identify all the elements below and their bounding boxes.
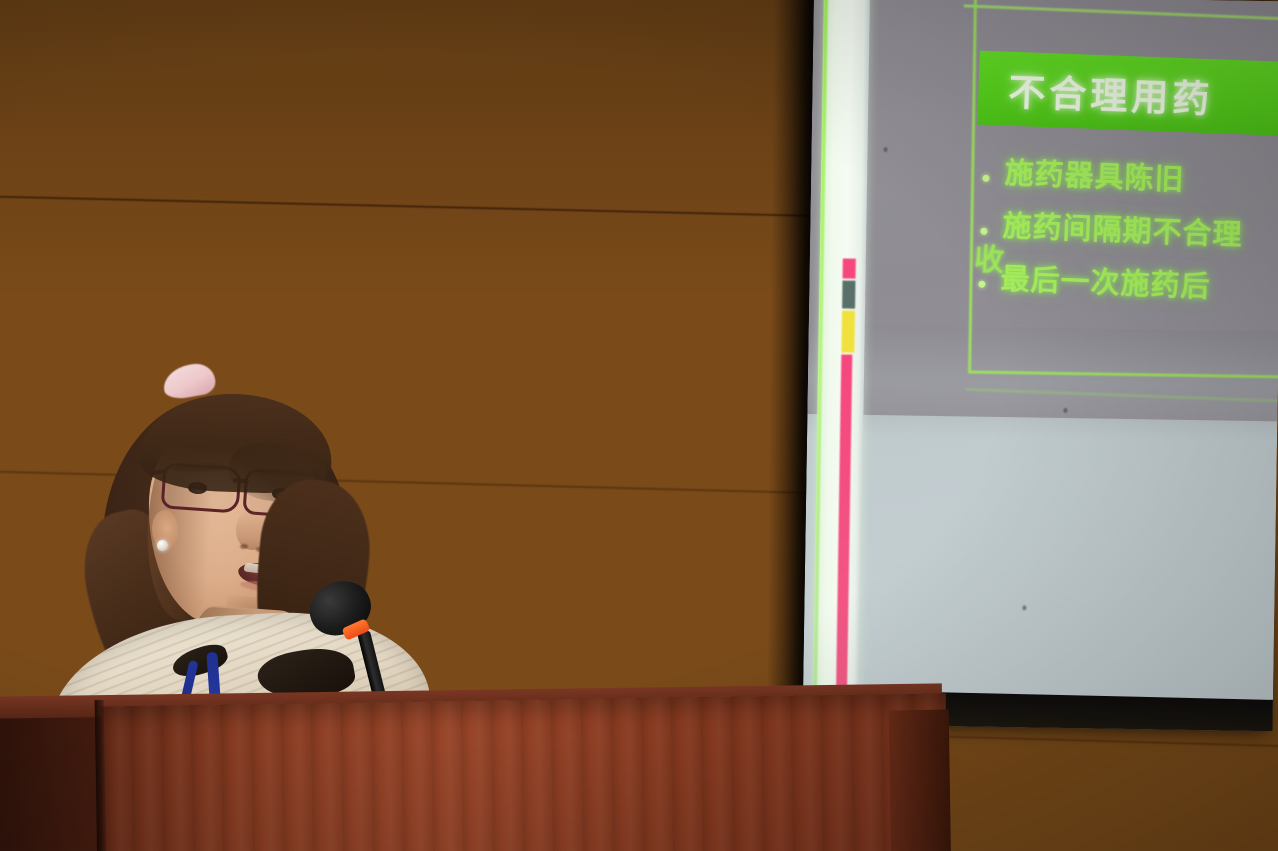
bullet-dot-icon: [978, 281, 985, 288]
slide-bullet-text: 施药器具陈旧: [1004, 150, 1185, 199]
screen-speck: [884, 147, 888, 152]
lectern-front-panel: [101, 693, 949, 851]
slide-chip-dark-green: [842, 280, 855, 308]
slide-chip-pink-top: [843, 258, 856, 278]
projection-screen: 不合理用药 施药器具陈旧 施药间隔期不合理 最后一次施药后 收: [803, 0, 1278, 731]
lectern-right-edge: [889, 710, 952, 851]
earring: [157, 540, 168, 551]
lectern: [0, 690, 950, 851]
slide-bullet-text: 施药间隔期不合理: [1002, 202, 1243, 253]
screen-speck: [1022, 605, 1026, 610]
screen-speck: [1063, 408, 1067, 413]
slide-title: 不合理用药: [978, 61, 1215, 124]
slide-bullet-item: 施药间隔期不合理: [980, 202, 1278, 257]
nostril: [240, 544, 248, 549]
slide-bullet-text: 最后一次施药后: [1000, 255, 1211, 305]
slide-title-banner: 不合理用药: [977, 51, 1278, 137]
slide-bullet-list: 施药器具陈旧 施药间隔期不合理 最后一次施药后 收: [977, 149, 1278, 321]
slide-stray-character: 收: [973, 234, 1006, 280]
slide-bullet-item: 最后一次施药后: [978, 255, 1278, 310]
bullet-dot-icon: [982, 175, 989, 182]
slide-chip-yellow: [841, 310, 855, 352]
photo-scene: 不合理用药 施药器具陈旧 施药间隔期不合理 最后一次施药后 收: [0, 0, 1278, 851]
